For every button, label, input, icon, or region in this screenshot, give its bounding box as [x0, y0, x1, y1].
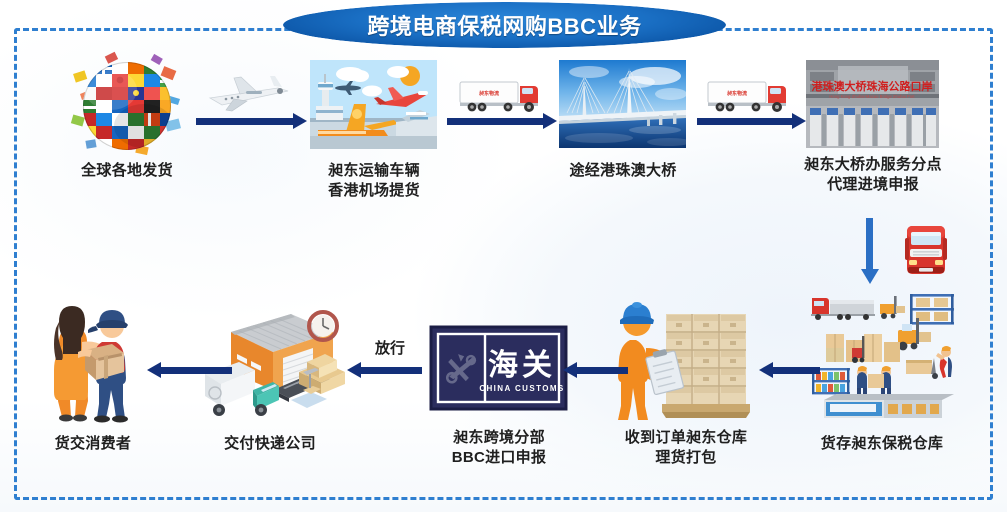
- title-banner: 跨境电商保税网购BBC业务: [283, 2, 726, 48]
- semi-truck-side-icon-1: 昶东物流: [458, 78, 550, 114]
- port-sign-chinese: 港珠澳大桥珠海公路口岸: [812, 79, 933, 93]
- step-customs-declaration-label: 昶东跨境分部 BBC进口申报: [423, 428, 575, 469]
- airport-plane-icon: [310, 60, 437, 149]
- warehouse-truck-isometric-icon: [195, 298, 345, 420]
- arrow-bridge-to-port: [697, 118, 793, 125]
- step-hzmb-bridge-label: 途经港珠澳大桥: [542, 161, 704, 181]
- worker-with-pallet-icon: [606, 292, 766, 422]
- border-checkpoint-photo: 港珠澳大桥珠海公路口岸 Hong Kong-Zhuhai-Macao Bridg…: [806, 60, 939, 148]
- step-order-picking-packing-label: 收到订单昶东仓库 理货打包: [608, 428, 764, 469]
- svg-text:昶东物流: 昶东物流: [726, 90, 747, 97]
- step-transport-hk-airport-label: 昶东运输车辆 香港机场提货: [293, 161, 455, 202]
- hong-kong-zhuhai-macau-bridge-photo: [559, 60, 686, 148]
- globe-of-world-flags-icon: [66, 50, 188, 158]
- arrow-global-to-airport: [196, 118, 294, 125]
- step-courier-company-label: 交付快递公司: [195, 434, 345, 454]
- release-label: 放行: [355, 337, 425, 358]
- step-bonded-warehouse-label: 货存昶东保税仓库: [800, 434, 964, 454]
- truck-front-icon: [904, 222, 948, 278]
- china-customs-sign-icon: 海关 CHINA CUSTOMS: [429, 325, 568, 411]
- page-title: 跨境电商保税网购BBC业务: [283, 2, 726, 48]
- arrow-warehouse-to-packing: [772, 367, 820, 374]
- port-sign-english: Hong Kong-Zhuhai-Macao Bridge Zhuhai Por…: [829, 94, 915, 99]
- diagram-canvas: 跨境电商保税网购BBC业务: [0, 0, 1007, 512]
- customs-chinese-text: 海关: [488, 348, 556, 383]
- arrow-customs-to-courier: [360, 367, 422, 374]
- customs-english-text: CHINA CUSTOMS: [479, 384, 564, 393]
- arrow-courier-to-consumer: [160, 367, 232, 374]
- arrow-airport-to-bridge: [447, 118, 544, 125]
- airplane-icon: [200, 72, 296, 116]
- arrow-release-to-customs: [576, 367, 628, 374]
- step-global-shipping-label: 全球各地发货: [47, 161, 207, 181]
- svg-text:昶东物流: 昶东物流: [478, 90, 499, 97]
- step-consumer-delivery-label: 货交消费者: [18, 434, 168, 454]
- courier-handing-parcel-icon: [34, 300, 148, 424]
- step-bridge-office-declaration-label: 昶东大桥办服务分点 代理进境申报: [787, 155, 959, 196]
- arrow-port-to-warehouse: [866, 218, 873, 270]
- warehouse-collage-icon: [806, 290, 958, 418]
- semi-truck-side-icon-2: 昶东物流: [706, 78, 798, 114]
